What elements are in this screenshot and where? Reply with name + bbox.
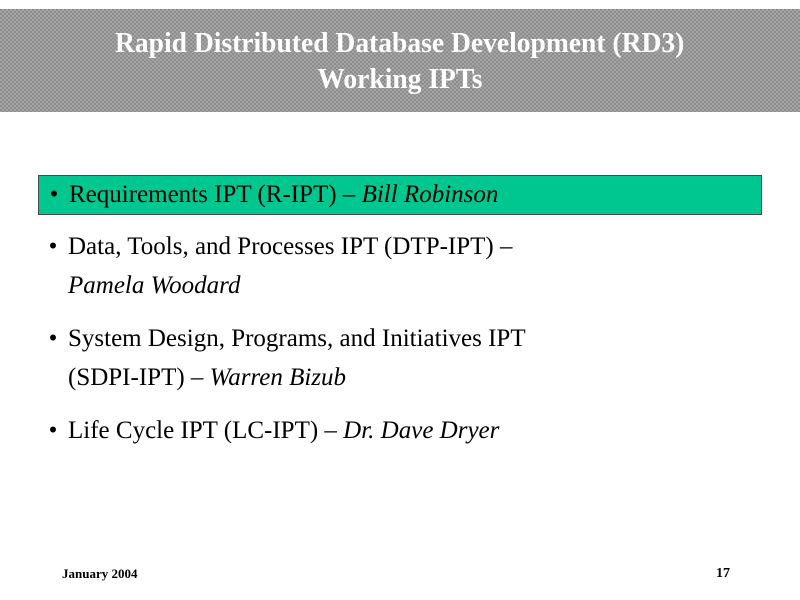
bullet-line-person: Dr. Dave Dryer (343, 417, 499, 444)
bullet-marker-icon: • (38, 227, 68, 266)
bullet-marker-icon: • (38, 319, 68, 358)
bullet-line-text: Life Cycle IPT (LC-IPT) – (68, 417, 343, 444)
bullet-line-text: Requirements IPT (R-IPT) – (69, 181, 362, 208)
bullet-line-person: Pamela Woodard (68, 272, 240, 299)
bullet-text: Data, Tools, and Processes IPT (DTP-IPT)… (68, 227, 764, 305)
bullet-text: Requirements IPT (R-IPT) – Bill Robinson (69, 176, 761, 214)
bullet-line-text-2: (SDPI-IPT) – (68, 364, 210, 391)
slide-bullet-list: • Requirements IPT (R-IPT) – Bill Robins… (38, 175, 764, 464)
bullet-line-text: System Design, Programs, and Initiatives… (68, 325, 526, 352)
footer-page-number: 17 (716, 566, 756, 582)
bullet-item-data-tools-processes-ipt[interactable]: • Data, Tools, and Processes IPT (DTP-IP… (38, 227, 764, 305)
bullet-item-life-cycle-ipt[interactable]: • Life Cycle IPT (LC-IPT) – Dr. Dave Dry… (38, 411, 764, 450)
bullet-text: System Design, Programs, and Initiatives… (68, 319, 764, 397)
slide-title-line-2: Working IPTs (317, 61, 482, 97)
bullet-item-system-design-programs-initiatives-ipt[interactable]: • System Design, Programs, and Initiativ… (38, 319, 764, 397)
bullet-marker-icon: • (39, 176, 69, 214)
slide-title-line-1: Rapid Distributed Database Development (… (115, 25, 684, 61)
bullet-marker-icon: • (38, 411, 68, 450)
bullet-line-person: Warren Bizub (210, 364, 346, 391)
bullet-line-person: Bill Robinson (362, 181, 499, 208)
bullet-item-requirements-ipt[interactable]: • Requirements IPT (R-IPT) – Bill Robins… (38, 175, 762, 215)
bullet-text: Life Cycle IPT (LC-IPT) – Dr. Dave Dryer (68, 411, 764, 450)
footer-date: January 2004 (62, 566, 137, 582)
bullet-line-text: Data, Tools, and Processes IPT (DTP-IPT)… (68, 233, 513, 260)
slide-canvas: Rapid Distributed Database Development (… (0, 0, 800, 600)
slide-title-band: Rapid Distributed Database Development (… (0, 9, 800, 112)
